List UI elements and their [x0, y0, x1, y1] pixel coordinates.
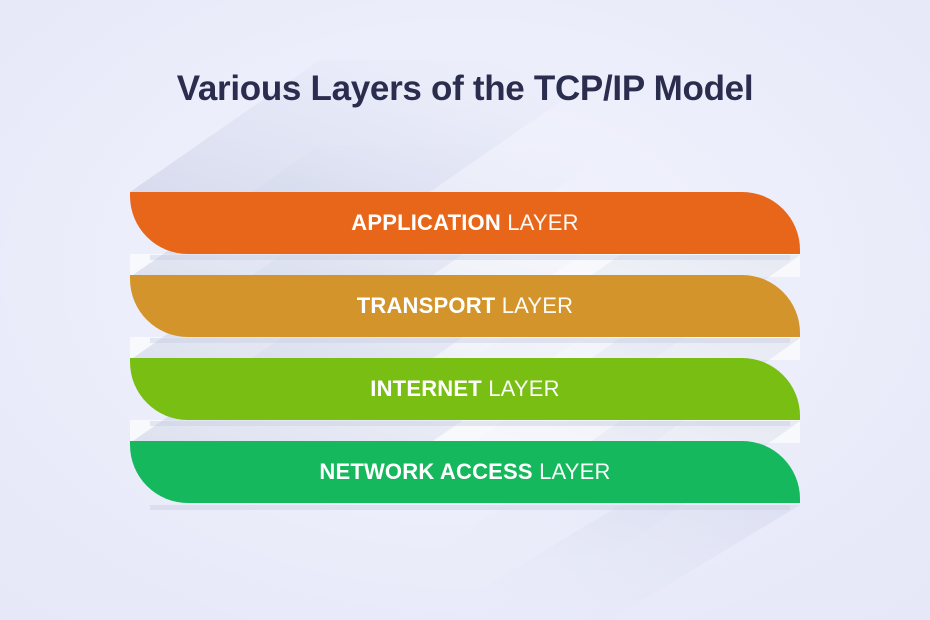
- layer-name-application: APPLICATION: [351, 210, 501, 235]
- layer-label-application: APPLICATION LAYER: [351, 212, 579, 234]
- layer-stack: APPLICATION LAYER TRANSPORT LAYER INTERN…: [130, 192, 800, 503]
- layer-bar-transport[interactable]: TRANSPORT LAYER: [130, 275, 800, 337]
- layer-label-network-access: NETWORK ACCESS LAYER: [319, 461, 610, 483]
- diagram-canvas: Various Layers of the TCP/IP Model APPLI…: [0, 0, 930, 620]
- page-title: Various Layers of the TCP/IP Model: [0, 68, 930, 110]
- layer-suffix-application: LAYER: [507, 210, 579, 235]
- layer-name-internet: INTERNET: [370, 376, 482, 401]
- layer-suffix-internet: LAYER: [488, 376, 560, 401]
- layer-label-internet: INTERNET LAYER: [370, 378, 559, 400]
- layer-name-network-access: NETWORK ACCESS: [319, 459, 532, 484]
- layer-label-transport: TRANSPORT LAYER: [357, 295, 574, 317]
- layer-bar-network-access[interactable]: NETWORK ACCESS LAYER: [130, 441, 800, 503]
- layer-suffix-transport: LAYER: [502, 293, 574, 318]
- layer-suffix-network-access: LAYER: [539, 459, 611, 484]
- layer-bar-application[interactable]: APPLICATION LAYER: [130, 192, 800, 254]
- layer-bar-internet[interactable]: INTERNET LAYER: [130, 358, 800, 420]
- layer-name-transport: TRANSPORT: [357, 293, 496, 318]
